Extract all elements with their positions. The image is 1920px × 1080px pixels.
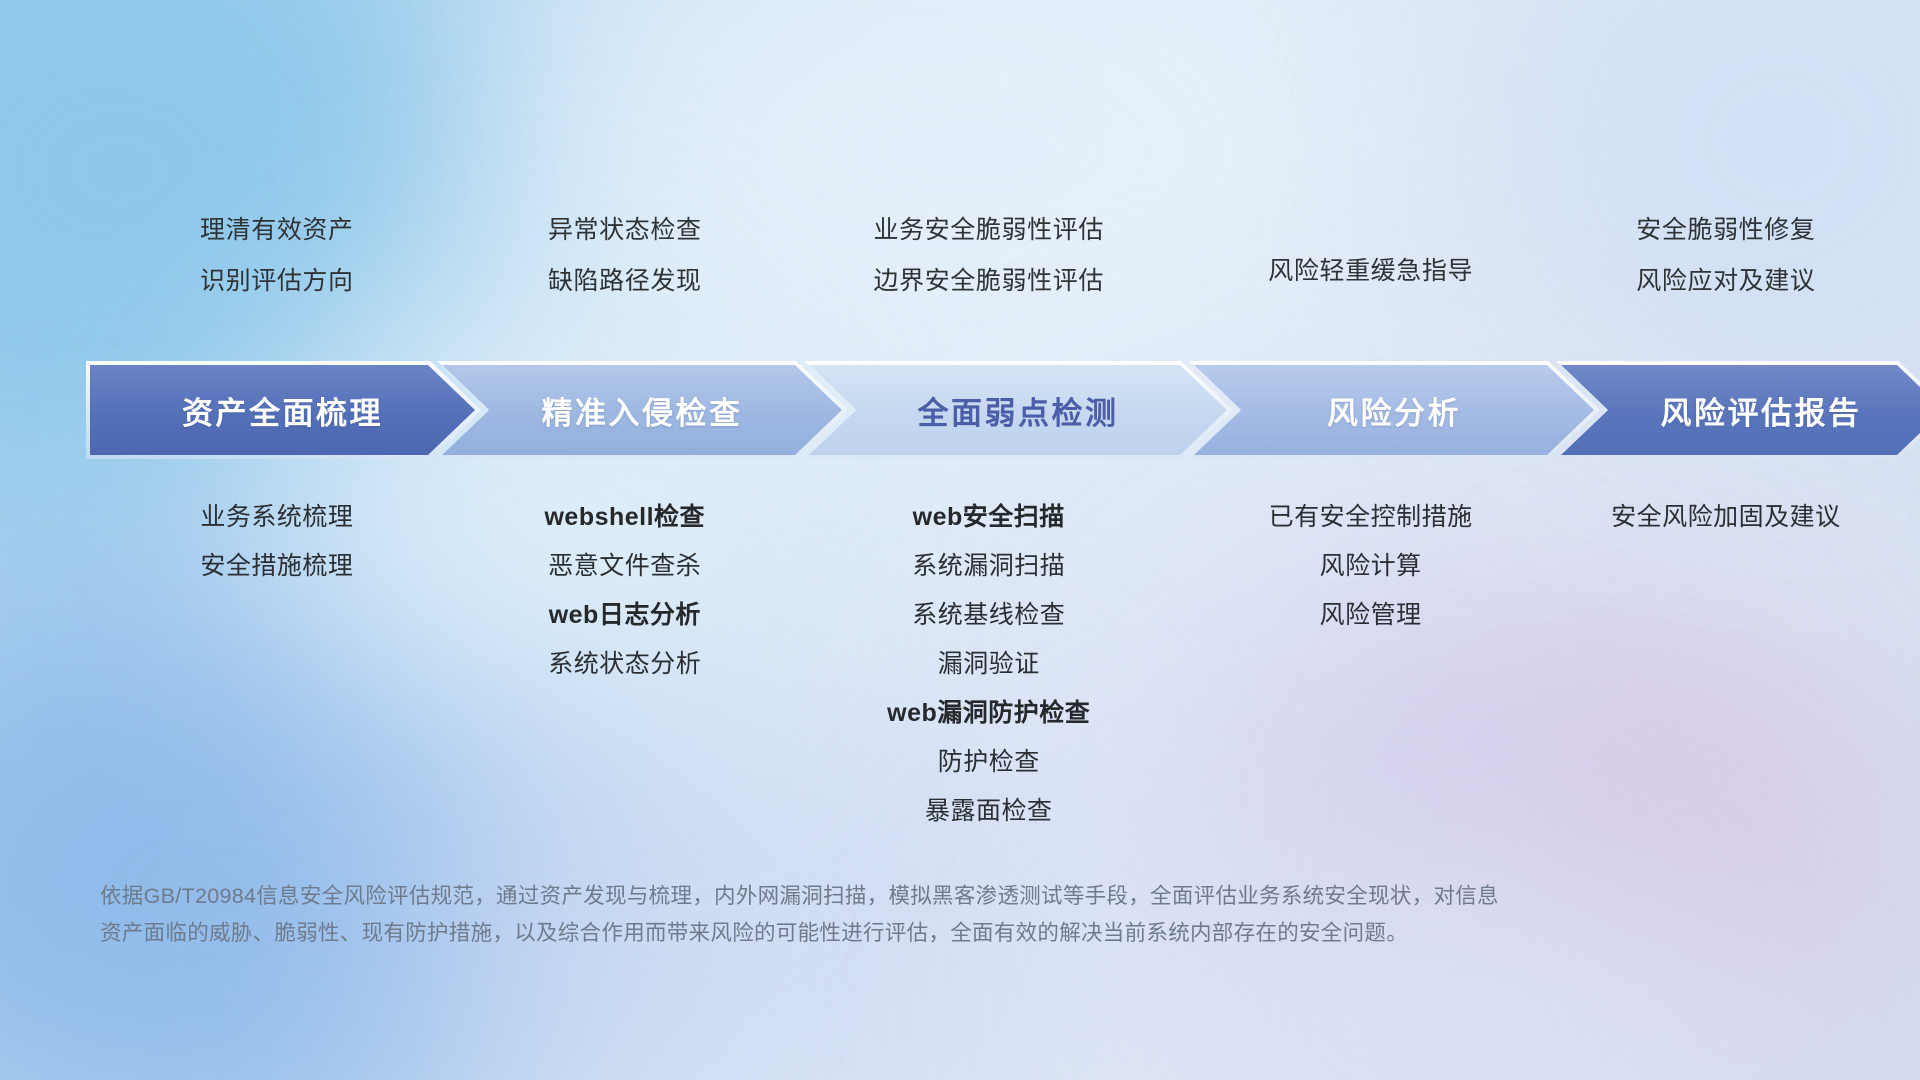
bottom-labels-stage-3: web安全扫描 系统漏洞扫描 系统基线检查 漏洞验证 web漏洞防护检查 防护检…: [786, 505, 1192, 848]
bottom-labels-stage-4: 已有安全控制措施 风险计算 风险管理: [1177, 505, 1565, 848]
top-label: 风险应对及建议: [1636, 269, 1815, 294]
bottom-labels-stage-2: webshell检查 恶意文件查杀 web日志分析 系统状态分析: [431, 505, 819, 848]
process-stage-asset-inventory[interactable]: 资产全面梳理: [90, 365, 475, 455]
top-labels-stage-2: 异常状态检查 缺陷路径发现: [431, 218, 819, 328]
top-label: 异常状态检查: [548, 218, 702, 243]
footnote-description: 依据GB/T20984信息安全风险评估规范，通过资产发现与梳理，内外网漏洞扫描，…: [100, 878, 1660, 952]
bottom-label-row: 业务系统梳理 安全措施梳理 webshell检查 恶意文件查杀 web日志分析 …: [0, 505, 1920, 848]
bottom-label: 系统状态分析: [548, 652, 701, 677]
bottom-label: 恶意文件查杀: [548, 554, 701, 579]
top-label: 识别评估方向: [200, 269, 354, 294]
bottom-label: 防护检查: [938, 750, 1040, 775]
top-labels-stage-1: 理清有效资产 识别评估方向: [90, 218, 464, 328]
bottom-label: 风险计算: [1320, 554, 1422, 579]
bottom-label: 已有安全控制措施: [1269, 505, 1473, 530]
top-label: 业务安全脆弱性评估: [874, 218, 1104, 243]
bottom-label: 安全风险加固及建议: [1611, 505, 1841, 530]
top-label: 缺陷路径发现: [548, 269, 702, 294]
bottom-label: 暴露面检查: [925, 799, 1053, 824]
bottom-label: 系统基线检查: [912, 603, 1065, 628]
stage-title: 风险分析: [1327, 388, 1461, 433]
stage-title: 精准入侵检查: [542, 388, 743, 433]
bottom-label: 业务系统梳理: [200, 505, 353, 530]
stage-title: 风险评估报告: [1661, 388, 1862, 433]
bottom-label: webshell检查: [544, 505, 705, 530]
process-stage-intrusion-check[interactable]: 精准入侵检查: [442, 365, 842, 455]
process-stage-risk-report[interactable]: 风险评估报告: [1561, 365, 1920, 455]
footnote-line-2: 资产面临的威胁、脆弱性、现有防护措施，以及综合作用而带来风险的可能性进行评估，全…: [100, 915, 1660, 952]
bottom-label: 风险管理: [1320, 603, 1422, 628]
bottom-labels-stage-5: 安全风险加固及建议: [1532, 505, 1920, 848]
top-labels-stage-5: 安全脆弱性修复 风险应对及建议: [1532, 218, 1920, 328]
process-stage-risk-analysis[interactable]: 风险分析: [1194, 365, 1594, 455]
stage-title: 资产全面梳理: [182, 388, 383, 433]
bottom-label: web安全扫描: [913, 505, 1065, 530]
process-stage-weakness-detection[interactable]: 全面弱点检测: [809, 365, 1227, 455]
top-labels-stage-4: 风险轻重缓急指导: [1177, 218, 1565, 328]
bottom-label: 漏洞验证: [938, 652, 1040, 677]
process-arrow-band: 资产全面梳理 精准入侵检查 全面弱点检测 风险分析 风险评估报告: [90, 365, 1850, 455]
top-label: 风险轻重缓急指导: [1268, 259, 1473, 284]
bottom-label: 安全措施梳理: [200, 554, 353, 579]
top-label-row: 理清有效资产 识别评估方向 异常状态检查 缺陷路径发现 业务安全脆弱性评估 边界…: [0, 218, 1920, 328]
top-label: 安全脆弱性修复: [1636, 218, 1815, 243]
bottom-labels-stage-1: 业务系统梳理 安全措施梳理: [90, 505, 464, 848]
top-label: 边界安全脆弱性评估: [874, 269, 1104, 294]
bottom-label: 系统漏洞扫描: [912, 554, 1065, 579]
top-label: 理清有效资产: [200, 218, 354, 243]
top-labels-stage-3: 业务安全脆弱性评估 边界安全脆弱性评估: [786, 218, 1192, 328]
bottom-label: web漏洞防护检查: [887, 701, 1090, 726]
bottom-label: web日志分析: [549, 603, 701, 628]
stage-title: 全面弱点检测: [918, 388, 1119, 433]
footnote-line-1: 依据GB/T20984信息安全风险评估规范，通过资产发现与梳理，内外网漏洞扫描，…: [100, 878, 1660, 915]
